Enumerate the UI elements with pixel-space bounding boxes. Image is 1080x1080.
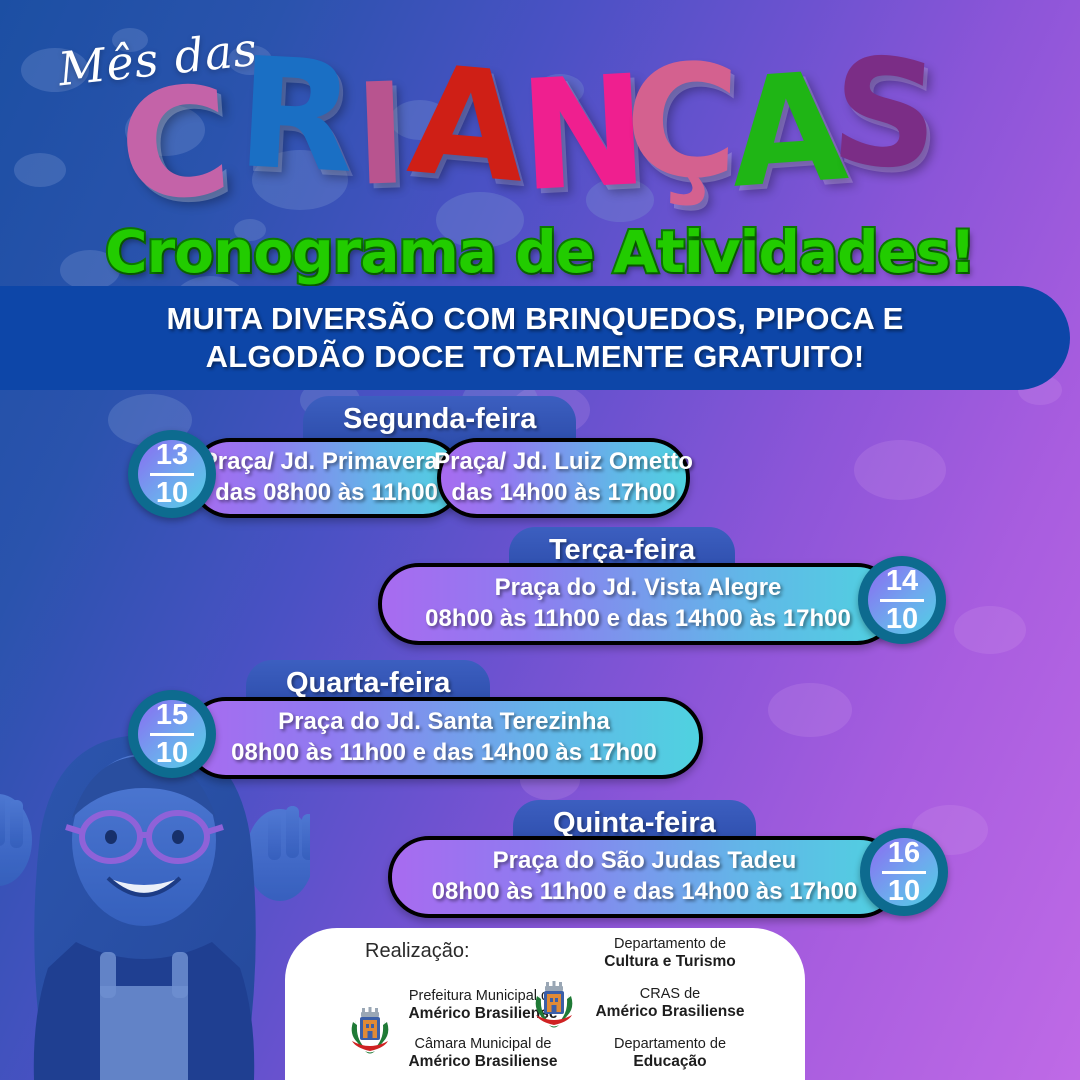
org-camara: Câmara Municipal de Américo Brasiliense <box>403 1036 563 1071</box>
poster-canvas: Mês das C R I A N Ç A S Cronograma de At… <box>0 0 1080 1080</box>
title-letter-4: A <box>404 45 533 205</box>
event-pill-segunda-tarde: Praça/ Jd. Luiz Ometto das 14h00 às 17h0… <box>437 438 690 518</box>
event-text-quarta: Praça do Jd. Santa Terezinha 08h00 às 11… <box>215 707 673 768</box>
org-line-top: Departamento de <box>585 936 755 953</box>
event-time: 08h00 às 11h00 e das 14h00 às 17h00 <box>432 877 858 908</box>
footer-card: Realização: Prefeitura Municipal de Amér… <box>285 928 805 1080</box>
org-line-top: Departamento de <box>585 1036 755 1053</box>
event-pill-terca: Praça do Jd. Vista Alegre 08h00 às 11h00… <box>378 563 898 645</box>
realizacao-label: Realização: <box>365 940 470 963</box>
date-month: 10 <box>886 604 918 634</box>
title-letter-2: R <box>234 37 359 195</box>
date-month: 10 <box>888 876 920 906</box>
date-badge-16-10: 16 10 <box>860 828 948 916</box>
org-line-bottom: Educação <box>585 1053 755 1071</box>
event-text-quinta: Praça do São Judas Tadeu 08h00 às 11h00 … <box>416 846 874 907</box>
event-place: Praça/ Jd. Primaveras <box>202 447 452 478</box>
org-line-bottom: Américo Brasiliense <box>403 1053 563 1071</box>
title-letter-3: I <box>353 65 410 207</box>
date-month: 10 <box>156 478 188 508</box>
event-text-segunda-tarde: Praça/ Jd. Luiz Ometto das 14h00 às 17h0… <box>418 447 709 508</box>
coat-of-arms-icon <box>531 980 577 1030</box>
date-month: 10 <box>156 738 188 768</box>
event-place: Praça do Jd. Vista Alegre <box>425 573 851 604</box>
date-badge-inner: 15 10 <box>138 700 206 768</box>
event-time: 08h00 às 11h00 e das 14h00 às 17h00 <box>231 738 657 769</box>
org-line-top: Câmara Municipal de <box>403 1036 563 1053</box>
org-line-top: CRAS de <box>585 986 755 1003</box>
date-badge-inner: 14 10 <box>868 566 936 634</box>
announcement-banner-text: MUITA DIVERSÃO COM BRINQUEDOS, PIPOCA E … <box>0 300 1035 376</box>
org-line-bottom: Américo Brasiliense <box>585 1003 755 1021</box>
event-time: das 14h00 às 17h00 <box>434 478 693 509</box>
event-time: 08h00 às 11h00 e das 14h00 às 17h00 <box>425 604 851 635</box>
date-divider <box>150 733 194 736</box>
event-place: Praça/ Jd. Luiz Ometto <box>434 447 693 478</box>
date-day: 14 <box>886 567 918 597</box>
date-day: 13 <box>156 441 188 471</box>
banner-line-1: MUITA DIVERSÃO COM BRINQUEDOS, PIPOCA E <box>35 300 1035 338</box>
event-pill-quinta: Praça do São Judas Tadeu 08h00 às 11h00 … <box>388 836 901 918</box>
date-divider <box>882 871 926 874</box>
event-place: Praça do São Judas Tadeu <box>432 846 858 877</box>
date-day: 15 <box>156 701 188 731</box>
event-text-terca: Praça do Jd. Vista Alegre 08h00 às 11h00… <box>409 573 867 634</box>
banner-line-2: ALGODÃO DOCE TOTALMENTE GRATUITO! <box>35 338 1035 376</box>
org-line-bottom: Cultura e Turismo <box>585 953 755 971</box>
date-divider <box>150 473 194 476</box>
date-badge-inner: 13 10 <box>138 440 206 508</box>
event-place: Praça do Jd. Santa Terezinha <box>231 707 657 738</box>
date-day: 16 <box>888 839 920 869</box>
date-badge-15-10: 15 10 <box>128 690 216 778</box>
subtitle-cronograma: Cronograma de Atividades! <box>0 218 1080 286</box>
title-letter-8: S <box>827 36 944 191</box>
date-divider <box>880 599 924 602</box>
date-badge-inner: 16 10 <box>870 838 938 906</box>
announcement-banner: MUITA DIVERSÃO COM BRINQUEDOS, PIPOCA E … <box>0 286 1070 390</box>
org-educacao: Departamento de Educação <box>585 1036 755 1071</box>
coat-of-arms-icon <box>347 1006 393 1056</box>
date-badge-13-10: 13 10 <box>128 430 216 518</box>
title-criancas: C R I A N Ç A S <box>120 28 980 218</box>
org-cras: CRAS de Américo Brasiliense <box>585 986 755 1021</box>
date-badge-14-10: 14 10 <box>858 556 946 644</box>
title-letter-6: Ç <box>622 42 741 201</box>
event-time: das 08h00 às 11h00 <box>202 478 452 509</box>
title-letter-1: C <box>115 66 235 223</box>
org-cultura-turismo: Departamento de Cultura e Turismo <box>585 936 755 971</box>
event-pill-quarta: Praça do Jd. Santa Terezinha 08h00 às 11… <box>185 697 703 779</box>
